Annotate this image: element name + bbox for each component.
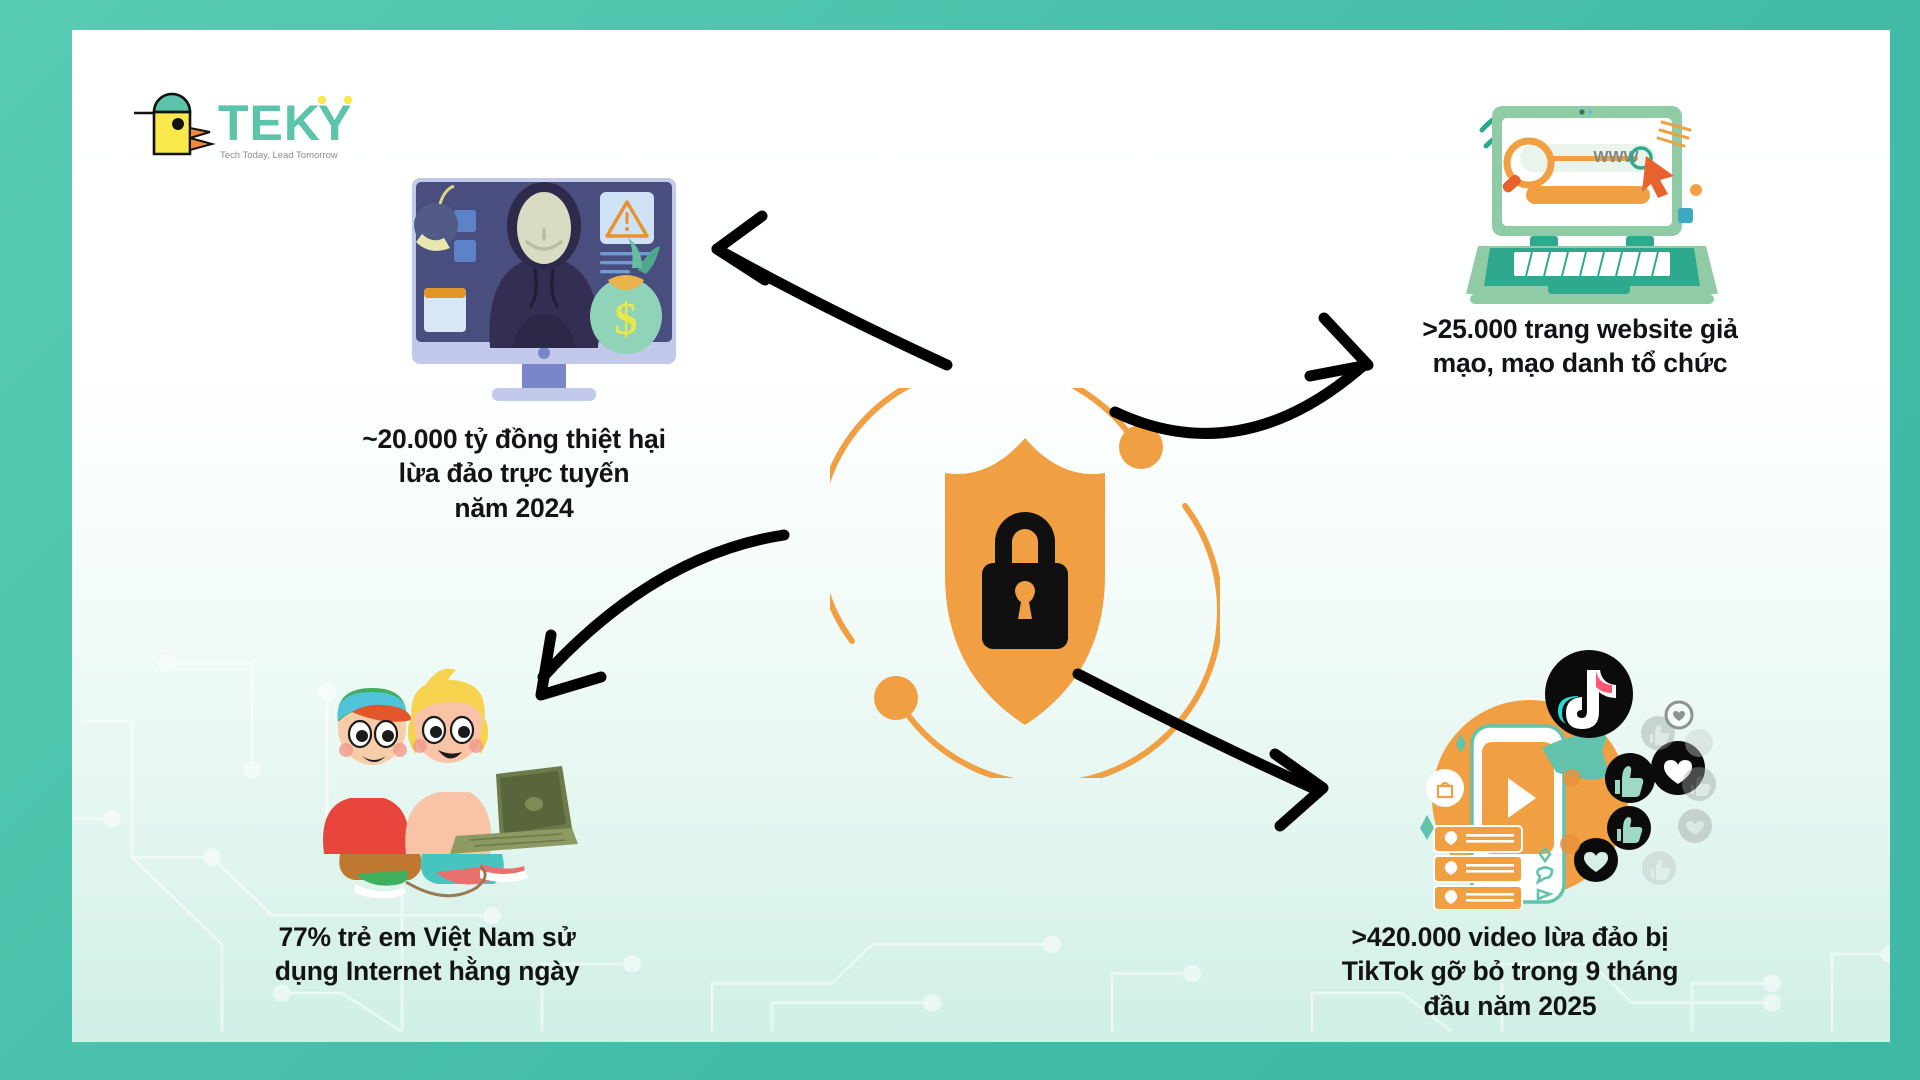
caption-line: dụng Internet hằng ngày — [212, 954, 642, 988]
laptop-search-www-icon: WWW — [1430, 78, 1720, 308]
caption-line: TikTok gỡ bỏ trong 9 tháng — [1290, 954, 1730, 988]
hacker-monitor-icon: $ — [394, 148, 694, 408]
caption-line: >420.000 video lừa đảo bị — [1290, 920, 1730, 954]
svg-text:TEK: TEK — [218, 95, 321, 151]
caption-line: đầu năm 2025 — [1290, 989, 1730, 1023]
caption-line: lừa đảo trực tuyến — [294, 456, 734, 490]
ring-node-top — [1119, 425, 1163, 469]
logo-tagline: Tech Today, Lead Tomorrow — [220, 150, 338, 161]
caption-line: 77% trẻ em Việt Nam sử — [212, 920, 642, 954]
caption-children-internet-usage: 77% trẻ em Việt Nam sử dụng Internet hằn… — [212, 920, 642, 989]
caption-line: mạo, mạo danh tổ chức — [1360, 346, 1800, 380]
tiktok-social-icon — [1410, 648, 1720, 910]
shield-lock-icon — [830, 388, 1220, 778]
ring-node-bottom — [874, 676, 918, 720]
caption-fake-websites: >25.000 trang website giả mạo, mạo danh … — [1360, 312, 1800, 381]
caption-line: ~20.000 tỷ đồng thiệt hại — [294, 422, 734, 456]
caption-line: năm 2024 — [294, 491, 734, 525]
infographic-canvas: TEK Y Tech Today, Lead Tomorrow — [72, 30, 1890, 1042]
caption-online-fraud-loss: ~20.000 tỷ đồng thiệt hại lừa đảo trực t… — [294, 422, 734, 525]
infographic-root: TEK Y Tech Today, Lead Tomorrow — [0, 0, 1920, 1080]
caption-tiktok-removed-videos: >420.000 video lừa đảo bị TikTok gỡ bỏ t… — [1290, 920, 1730, 1023]
arrow-to-hacker — [717, 216, 947, 365]
svg-text:$: $ — [615, 293, 638, 344]
teky-logo[interactable]: TEK Y Tech Today, Lead Tomorrow — [134, 78, 364, 164]
kids-laptop-icon — [310, 658, 580, 898]
caption-line: >25.000 trang website giả — [1360, 312, 1800, 346]
